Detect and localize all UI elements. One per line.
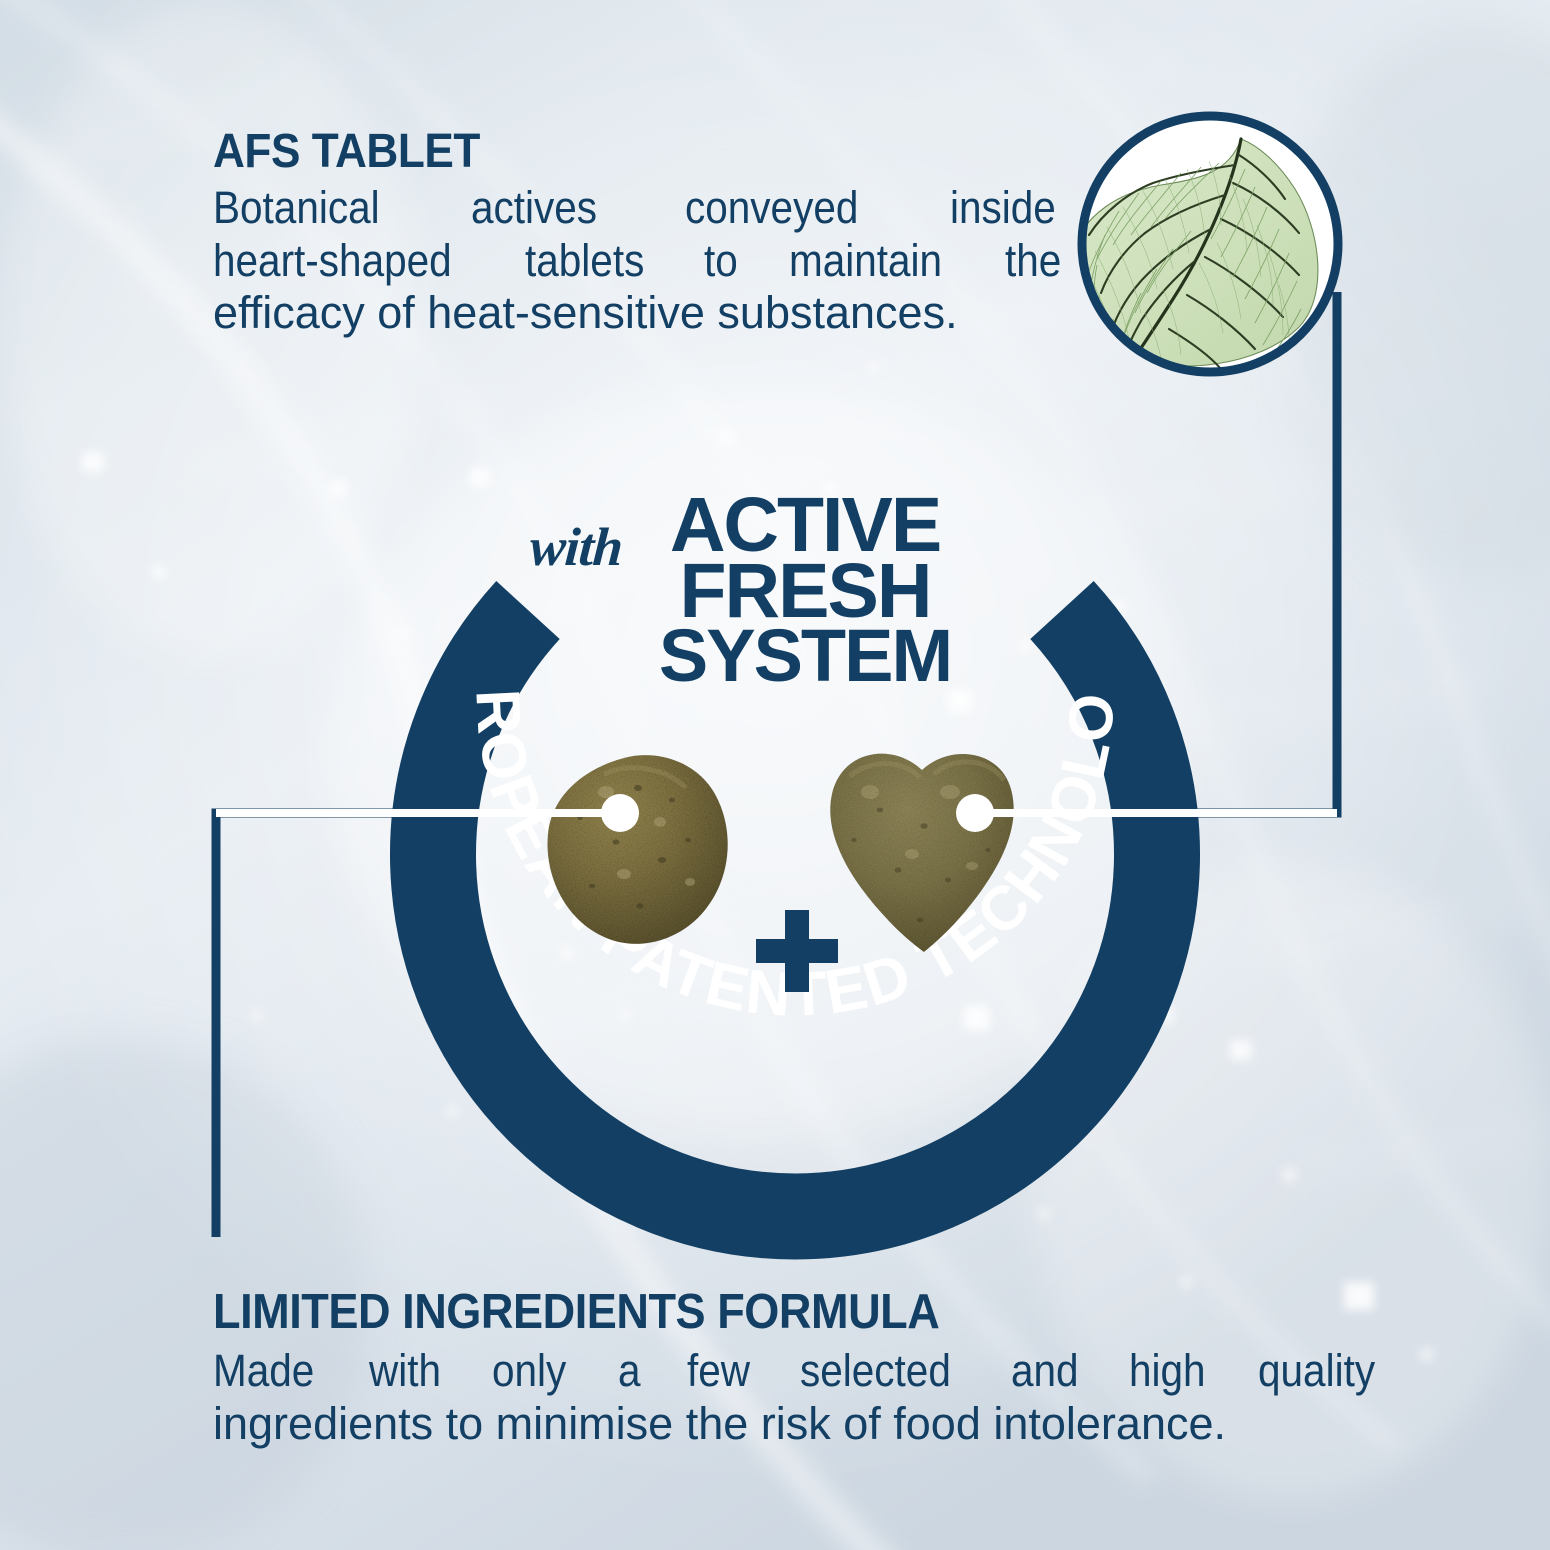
afs-tablet-heading: AFS TABLET <box>213 128 949 176</box>
afs-body-line-1: Botanical actives conveyed inside <box>213 182 1068 235</box>
lif-text: ingredients to minimise the risk of food… <box>213 1398 1226 1449</box>
lif-word: high <box>1129 1345 1206 1398</box>
lif-word: with <box>369 1345 441 1398</box>
afs-word: conveyed <box>685 182 858 235</box>
lif-word: few <box>687 1345 750 1398</box>
lif-word: Made <box>213 1345 314 1398</box>
lif-word: selected <box>800 1345 951 1398</box>
afs-word: inside <box>950 182 1056 235</box>
lif-word: a <box>618 1345 641 1398</box>
limited-ingredients-heading: LIMITED INGREDIENTS FORMULA <box>213 1288 1299 1337</box>
afs-text: efficacy of heat-sensitive substances. <box>213 287 958 338</box>
afs-word: heart-shaped <box>213 235 452 288</box>
afs-word: maintain <box>789 235 942 288</box>
kibble-callout-dot <box>601 794 639 832</box>
promo-infographic: EUROPEAN PATENTED TECHNOLOGY with ACTIVE… <box>0 0 1550 1550</box>
lif-word: and <box>1011 1345 1079 1398</box>
afs-word: actives <box>471 182 597 235</box>
afs-word: tablets <box>525 235 644 288</box>
lif-body-line-1: Made with only a few selected and high q… <box>213 1345 1388 1398</box>
afs-body-line-3: efficacy of heat-sensitive substances. <box>213 287 1013 340</box>
afs-body-line-2: heart-shaped tablets to maintain the <box>213 235 1068 288</box>
lif-word: only <box>492 1345 566 1398</box>
afs-word: the <box>1005 235 1061 288</box>
lif-body-line-2: ingredients to minimise the risk of food… <box>213 1398 1393 1451</box>
limited-ingredients-feature: LIMITED INGREDIENTS FORMULA Made with on… <box>213 1288 1393 1450</box>
afs-tablet-feature: AFS TABLET Botanical actives conveyed in… <box>213 128 1013 340</box>
afs-word: Botanical <box>213 182 380 235</box>
afs-word: to <box>704 235 738 288</box>
tablet-callout-dot <box>956 794 994 832</box>
lif-word: quality <box>1258 1345 1375 1398</box>
